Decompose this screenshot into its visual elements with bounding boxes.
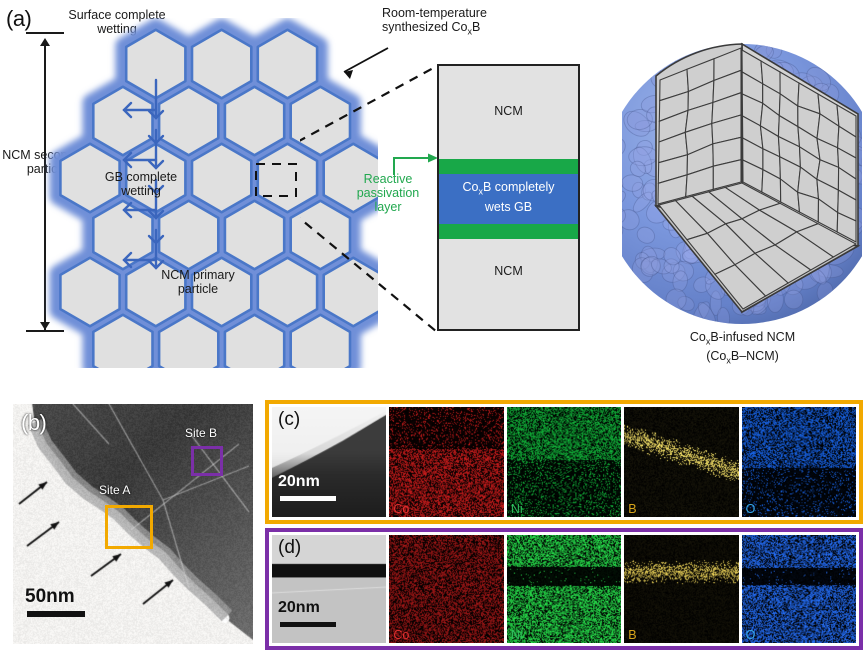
eds-cell-o-map: O xyxy=(742,535,856,643)
figure-root: (a) NCM secondary particle Surface compl… xyxy=(0,0,867,653)
reactive-line-3: layer xyxy=(348,200,428,214)
panel-b-letter: (b) xyxy=(21,410,46,436)
eds-cell-b-map: B xyxy=(624,407,738,517)
rt-leader-line xyxy=(344,48,388,72)
panel-b-scale-bar-label: 50nm xyxy=(25,586,75,608)
ncm-primary-particle-label: NCM primary particle xyxy=(160,268,236,296)
passivation-band-bottom xyxy=(439,224,578,239)
eds-cell-o-map: O xyxy=(742,407,856,517)
eds-canvas xyxy=(507,407,621,517)
eds-cell-b-map: B xyxy=(624,535,738,643)
panel-letter: (d) xyxy=(278,537,301,559)
eds-cell-haadf: (c)20nm xyxy=(272,407,386,517)
element-tag-o: O xyxy=(746,502,756,516)
eds-cell-co-map: Co xyxy=(389,407,503,517)
panel-d-eds-row: (d)20nmCoNiBO xyxy=(265,528,863,650)
eds-cell-ni-map: Ni xyxy=(507,535,621,643)
sph2-pre: (Co xyxy=(706,349,726,363)
coxb-pre: Co xyxy=(462,180,478,194)
eds-canvas xyxy=(389,407,503,517)
element-tag-o: O xyxy=(746,628,756,642)
eds-canvas xyxy=(624,407,738,517)
eds-cell-ni-map: Ni xyxy=(507,407,621,517)
sph2-post: B–NCM) xyxy=(731,349,779,363)
sphere-caption-line1: CoxB-infused NCM xyxy=(620,330,865,349)
site-b-label: Site B xyxy=(185,426,217,440)
eds-canvas xyxy=(742,535,856,643)
reactive-line-2: passivation xyxy=(348,186,428,200)
coxb-post: B completely xyxy=(483,180,555,194)
element-tag-ni: Ni xyxy=(511,502,523,516)
passivation-band-top xyxy=(439,159,578,174)
site-a-label: Site A xyxy=(99,483,130,497)
sph-post: B-infused NCM xyxy=(710,330,795,344)
site-a-box xyxy=(105,505,153,549)
sph-pre: Co xyxy=(690,330,706,344)
element-tag-b: B xyxy=(628,502,636,516)
coxb-infused-ncm-sphere xyxy=(622,36,862,346)
eds-canvas xyxy=(507,535,621,643)
eds-canvas xyxy=(742,407,856,517)
grain-boundary-inset-box: NCM NCM CoxB completely wets GB xyxy=(437,64,580,331)
eds-canvas xyxy=(389,535,503,643)
coxb-line2: wets GB xyxy=(485,200,532,214)
element-tag-b: B xyxy=(628,628,636,642)
sphere-caption: CoxB-infused NCM (CoxB–NCM) xyxy=(620,330,865,367)
panel-b-scale-bar xyxy=(27,611,85,617)
scale-bar xyxy=(280,496,336,501)
coxb-wets-gb-label: CoxB completely wets GB xyxy=(439,180,578,215)
gb-complete-wetting-label: GB complete wetting xyxy=(103,170,179,198)
element-tag-ni: Ni xyxy=(511,628,523,642)
inset-ncm-bottom-label: NCM xyxy=(439,264,578,278)
reactive-arrow-path xyxy=(394,158,430,175)
element-tag-co: Co xyxy=(393,628,409,642)
element-tag-co: Co xyxy=(393,502,409,516)
eds-cell-haadf: (d)20nm xyxy=(272,535,386,643)
scale-bar-label: 20nm xyxy=(278,599,320,617)
panel-b-tem-image: (b) Site A Site B 50nm xyxy=(13,404,253,644)
scale-bar xyxy=(280,622,336,627)
panel-c-eds-row: (c)20nmCoNiBO xyxy=(265,400,863,524)
rt-line-1: Room-temperature xyxy=(382,6,502,20)
inset-ncm-top-label: NCM xyxy=(439,104,578,118)
eds-canvas xyxy=(624,535,738,643)
panel-letter: (c) xyxy=(278,409,300,431)
scale-bar-label: 20nm xyxy=(278,473,320,491)
site-b-box xyxy=(191,446,223,476)
sphere-caption-line2: (CoxB–NCM) xyxy=(620,349,865,368)
eds-cell-co-map: Co xyxy=(389,535,503,643)
